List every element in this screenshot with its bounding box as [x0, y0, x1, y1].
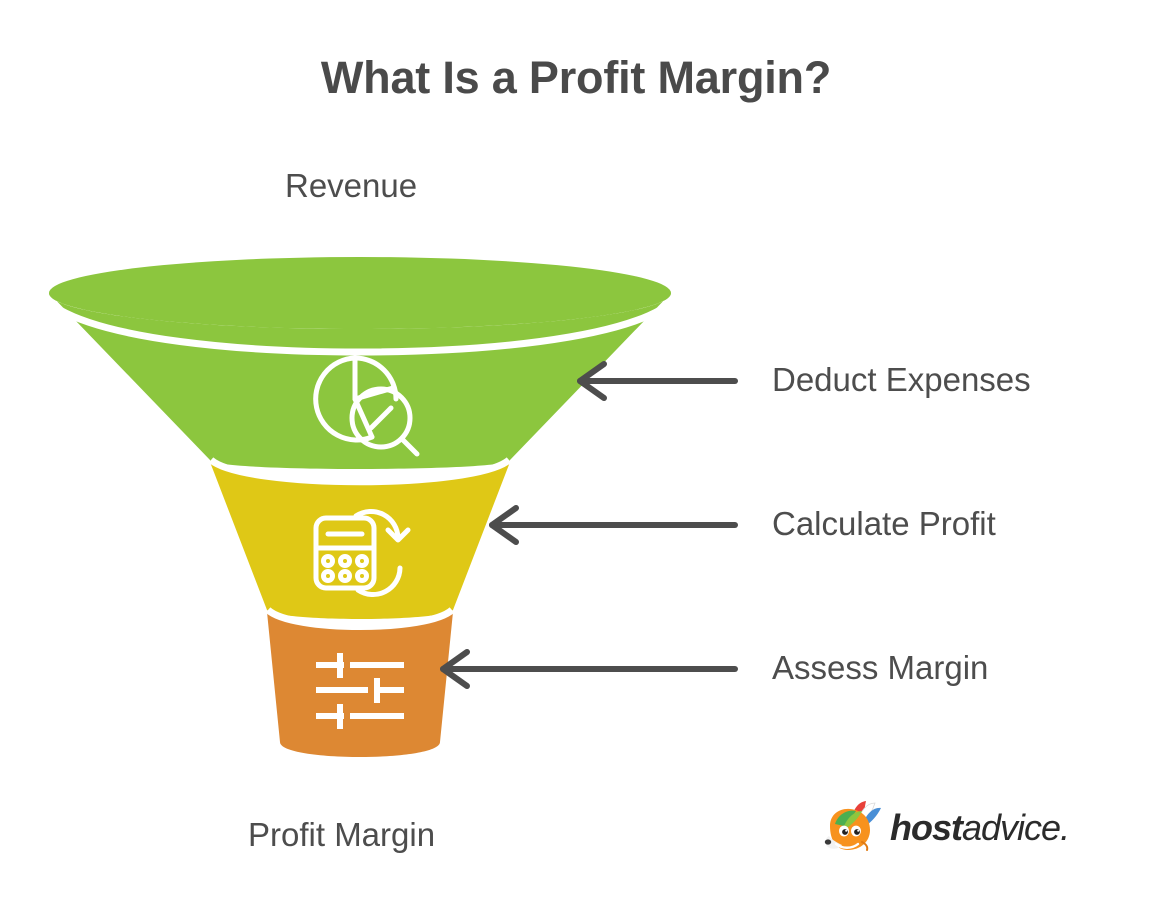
sliders-icon	[316, 653, 404, 729]
logo-wordmark: hostadvice.	[890, 810, 1069, 846]
arrow-assess-margin	[443, 652, 735, 686]
funnel-diagram	[0, 0, 1152, 913]
funnel-stage-assess-margin	[267, 612, 453, 757]
funnel-stage-calculate-profit	[210, 462, 510, 619]
funnel-orange-body	[267, 612, 453, 757]
arrow-deduct-expenses	[580, 364, 735, 398]
infographic-canvas: What Is a Profit Margin? Revenue Deduct …	[0, 0, 1152, 913]
funnel-top-rim	[49, 257, 671, 329]
logo-text-host: host	[890, 807, 962, 848]
fox-mascot-icon	[822, 800, 884, 856]
logo-text-advice: advice.	[962, 807, 1069, 848]
hostadvice-logo[interactable]: hostadvice.	[822, 797, 1069, 859]
arrow-calculate-profit	[492, 508, 735, 542]
funnel-yellow-body	[210, 462, 510, 619]
